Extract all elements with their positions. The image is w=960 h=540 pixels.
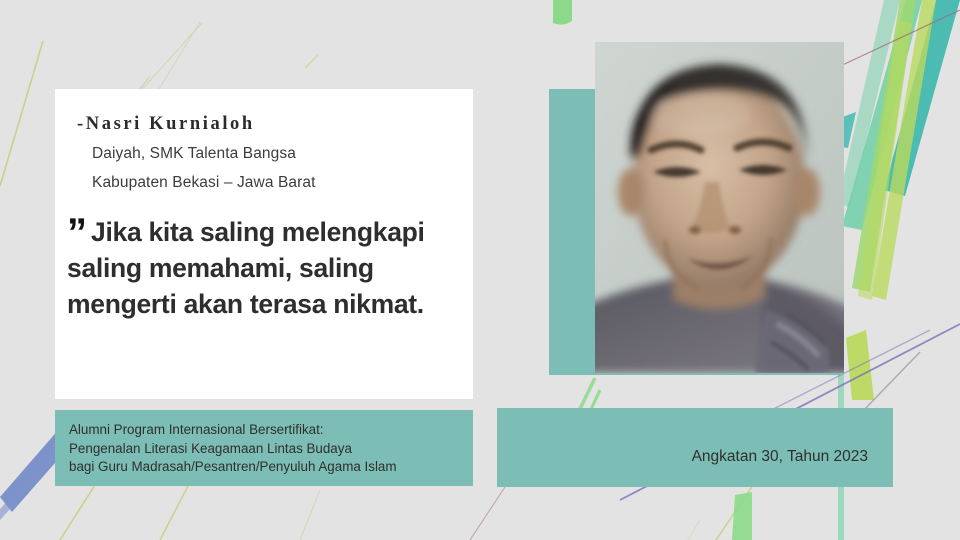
speaker-role: Daiyah, SMK Talenta Bangsa bbox=[92, 145, 296, 163]
program-caption-line-3: bagi Guru Madrasah/Pesantren/Penyuluh Ag… bbox=[69, 458, 473, 477]
quote-card: -Nasri Kurnialoh Daiyah, SMK Talenta Ban… bbox=[55, 89, 473, 399]
slide-canvas: -Nasri Kurnialoh Daiyah, SMK Talenta Ban… bbox=[0, 0, 960, 540]
program-caption-box: Alumni Program Internasional Bersertifik… bbox=[55, 410, 473, 486]
quote-text: Jika kita saling melengkapi saling memah… bbox=[67, 217, 425, 319]
quote-mark-icon: ” bbox=[67, 211, 86, 255]
cohort-caption-box: Angkatan 30, Tahun 2023 bbox=[497, 408, 893, 487]
speaker-name: -Nasri Kurnialoh bbox=[77, 114, 255, 135]
speaker-photo bbox=[595, 42, 844, 373]
program-caption-line-2: Pengenalan Literasi Keagamaan Lintas Bud… bbox=[69, 440, 473, 459]
speaker-location: Kabupaten Bekasi – Jawa Barat bbox=[92, 174, 316, 192]
speaker-photo-block bbox=[549, 89, 844, 375]
cohort-caption-text: Angkatan 30, Tahun 2023 bbox=[497, 448, 868, 466]
program-caption-line-1: Alumni Program Internasional Bersertifik… bbox=[69, 421, 473, 440]
quote-text-block: ”Jika kita saling melengkapi saling mema… bbox=[67, 214, 473, 322]
